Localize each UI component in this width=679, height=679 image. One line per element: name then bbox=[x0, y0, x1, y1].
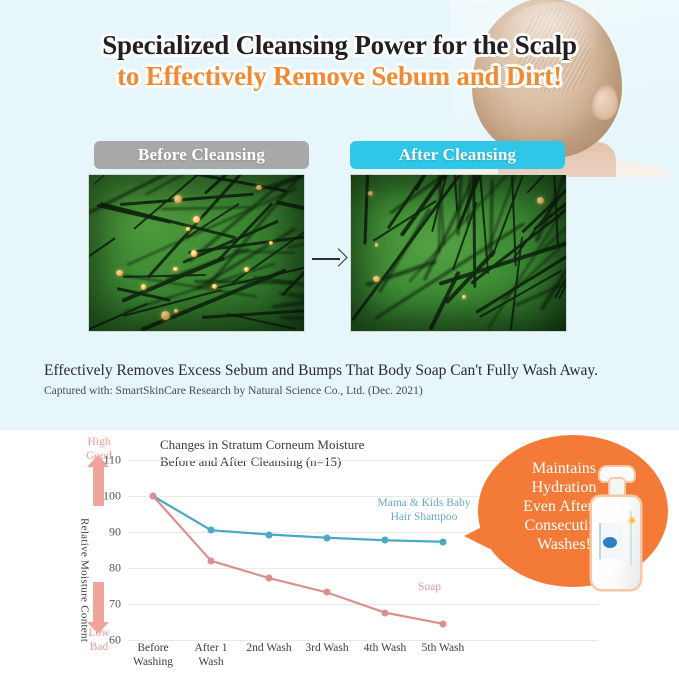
y-tick-label: 80 bbox=[109, 561, 121, 576]
before-cleansing-label: Before Cleansing bbox=[94, 141, 309, 169]
series-label-shampoo: Mama & Kids Baby Hair Shampoo bbox=[359, 496, 489, 524]
callout-bubble: Maintains Hydration Even After 5 Consecu… bbox=[478, 435, 676, 593]
data-point bbox=[208, 557, 215, 564]
arrow-head bbox=[329, 248, 347, 266]
y-tick-label: 110 bbox=[103, 453, 121, 468]
data-point bbox=[266, 575, 273, 582]
star-icon: ✷ bbox=[626, 515, 638, 527]
product-bottle: ✷ bbox=[586, 467, 646, 589]
data-point bbox=[208, 527, 215, 534]
x-tick-label: 5th Wash bbox=[422, 642, 465, 656]
arrow-down-icon bbox=[93, 582, 104, 622]
caption-main: Effectively Removes Excess Sebum and Bum… bbox=[44, 362, 598, 380]
after-cleansing-image bbox=[350, 174, 567, 332]
data-point bbox=[440, 620, 447, 627]
baby-head bbox=[472, 0, 622, 158]
y-tick-label: 60 bbox=[109, 633, 121, 648]
baby-hair-sheen bbox=[502, 2, 614, 68]
x-tick-label: 4th Wash bbox=[364, 642, 407, 656]
y-tick-label: 70 bbox=[109, 597, 121, 612]
data-point bbox=[382, 537, 389, 544]
y-tick-label: 90 bbox=[109, 525, 121, 540]
data-point bbox=[324, 589, 331, 596]
x-tick-label: After 1 Wash bbox=[195, 642, 228, 670]
data-point bbox=[266, 531, 273, 538]
x-tick-label: 3rd Wash bbox=[305, 642, 348, 656]
data-point bbox=[150, 493, 157, 500]
image-vignette bbox=[351, 175, 566, 331]
chart-section: Changes in Stratum Corneum Moisture Befo… bbox=[0, 430, 679, 679]
image-vignette bbox=[89, 175, 304, 331]
bottle-logo-dot bbox=[603, 537, 617, 548]
data-point bbox=[382, 609, 389, 616]
data-point bbox=[324, 534, 331, 541]
baby-ear bbox=[590, 84, 618, 120]
data-point bbox=[440, 538, 447, 545]
top-section: Specialized Cleansing Power for the Scal… bbox=[0, 0, 679, 430]
poster-root: Specialized Cleansing Power for the Scal… bbox=[0, 0, 679, 679]
x-tick-label: Before Washing bbox=[133, 642, 173, 670]
caption-sub: Captured with: SmartSkinCare Research by… bbox=[44, 385, 423, 397]
before-cleansing-image bbox=[88, 174, 305, 332]
gridline bbox=[128, 640, 598, 641]
series-label-soap: Soap bbox=[418, 580, 441, 594]
right-arrow-icon bbox=[312, 248, 346, 270]
y-tick-label: 100 bbox=[103, 489, 121, 504]
after-cleansing-label: After Cleansing bbox=[350, 141, 565, 169]
x-tick-label: 2nd Wash bbox=[246, 642, 291, 656]
